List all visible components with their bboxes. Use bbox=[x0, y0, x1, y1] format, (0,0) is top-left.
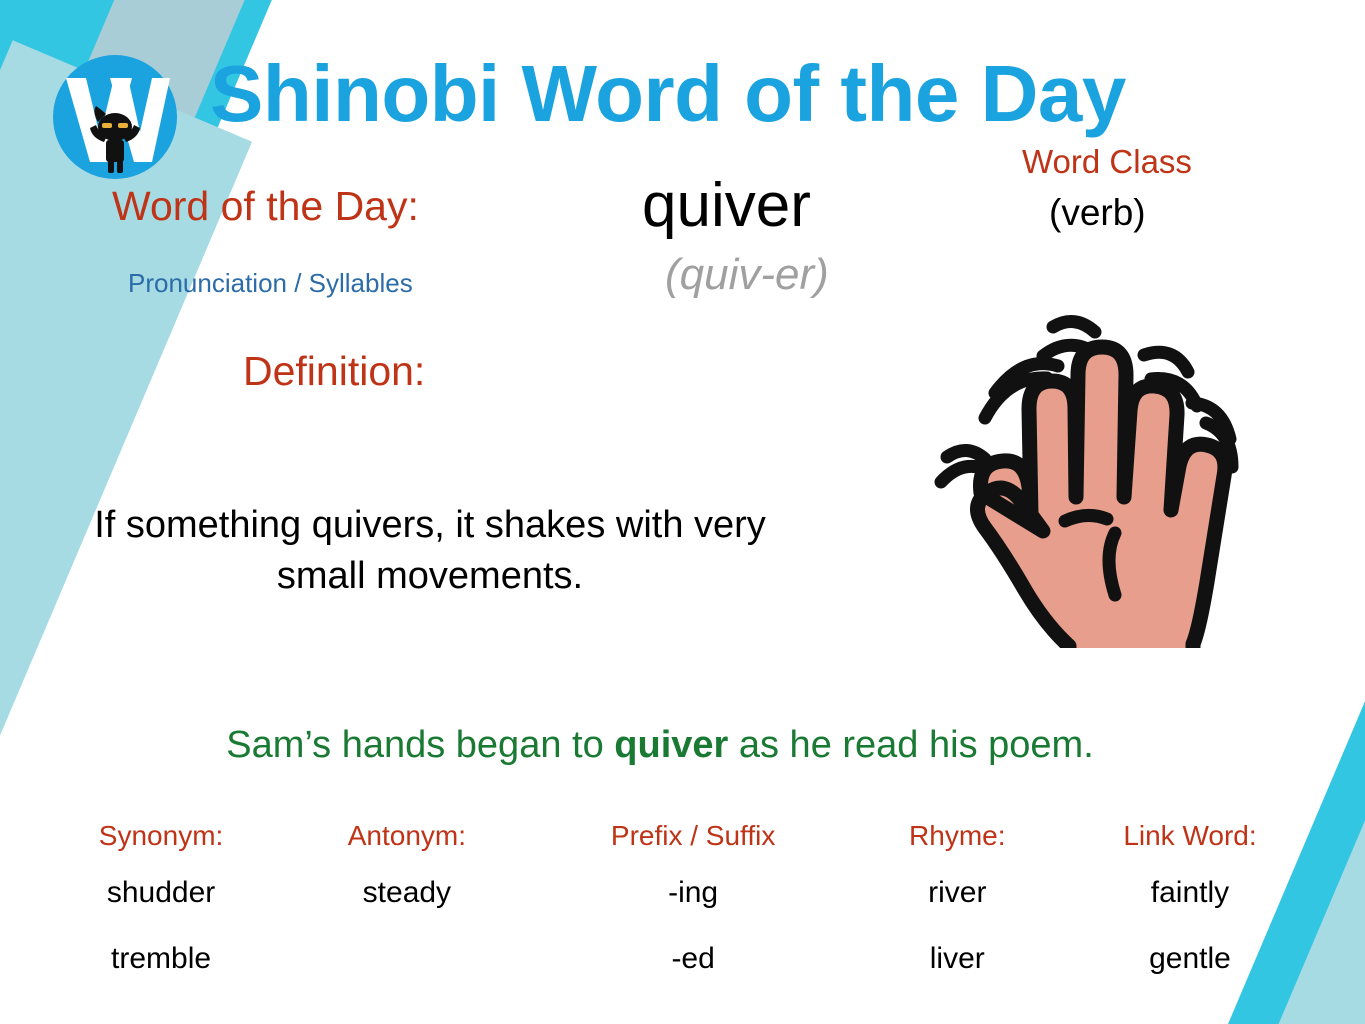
column-header-synonym: Synonym: bbox=[35, 820, 287, 874]
sentence-suffix: as he read his poem. bbox=[728, 724, 1093, 766]
cell-rhyme-2: liver bbox=[860, 940, 1055, 1006]
cell-antonym-1: steady bbox=[287, 874, 527, 940]
cell-synonym-1: shudder bbox=[35, 874, 287, 940]
example-sentence: Sam’s hands began to quiver as he read h… bbox=[40, 725, 1280, 767]
word-class-value: (verb) bbox=[1049, 192, 1146, 234]
table-row: shudder steady -ing river faintly bbox=[35, 874, 1325, 940]
shinobi-ninja-logo-icon bbox=[48, 50, 182, 184]
shaking-hand-icon bbox=[915, 283, 1265, 648]
table-header-row: Synonym: Antonym: Prefix / Suffix Rhyme:… bbox=[35, 820, 1325, 874]
cell-link-word-1: faintly bbox=[1055, 874, 1325, 940]
cell-synonym-2: tremble bbox=[35, 940, 287, 1006]
word-value: quiver bbox=[642, 175, 811, 237]
column-header-link-word: Link Word: bbox=[1055, 820, 1325, 874]
pronunciation-value: (quiv-er) bbox=[665, 253, 829, 297]
table-row: tremble -ed liver gentle bbox=[35, 940, 1325, 1006]
cell-prefix-suffix-2: -ed bbox=[527, 940, 860, 1006]
column-header-rhyme: Rhyme: bbox=[860, 820, 1055, 874]
slide-header: Shinobi Word of the Day bbox=[0, 26, 1365, 146]
column-header-prefix-suffix: Prefix / Suffix bbox=[527, 820, 860, 874]
word-relations-table: Synonym: Antonym: Prefix / Suffix Rhyme:… bbox=[35, 820, 1325, 1006]
page-title: Shinobi Word of the Day bbox=[210, 54, 1330, 134]
cell-antonym-2 bbox=[287, 940, 527, 1006]
sentence-keyword: quiver bbox=[614, 724, 728, 766]
cell-prefix-suffix-1: -ing bbox=[527, 874, 860, 940]
pronunciation-syllables-label: Pronunciation / Syllables bbox=[128, 268, 413, 299]
cell-link-word-2: gentle bbox=[1055, 940, 1325, 1006]
definition-text: If something quivers, it shakes with ver… bbox=[60, 500, 800, 603]
column-header-antonym: Antonym: bbox=[287, 820, 527, 874]
word-of-the-day-label: Word of the Day: bbox=[112, 183, 419, 230]
sentence-prefix: Sam’s hands began to bbox=[226, 724, 614, 766]
word-class-label: Word Class bbox=[1022, 143, 1192, 181]
definition-label: Definition: bbox=[243, 348, 425, 395]
cell-rhyme-1: river bbox=[860, 874, 1055, 940]
word-of-the-day-slide: Shinobi Word of the Day Word of the Day:… bbox=[0, 0, 1365, 1024]
